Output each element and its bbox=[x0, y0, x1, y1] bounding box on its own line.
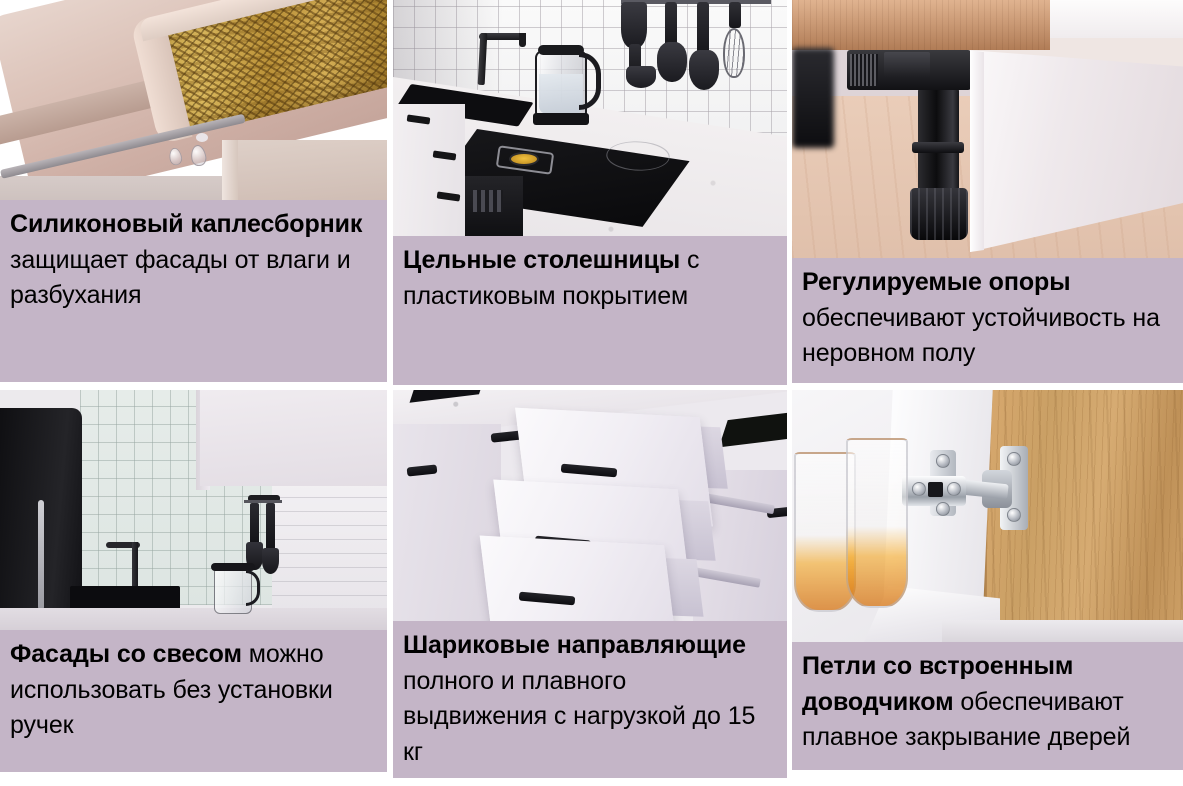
leg-bracket-clip bbox=[884, 52, 930, 78]
tall-cabinet-handle bbox=[38, 500, 44, 610]
whisk-handle-icon bbox=[729, 2, 741, 28]
white-brick-backsplash bbox=[272, 480, 387, 610]
drinking-glass bbox=[846, 438, 908, 608]
utensil-turner-icon bbox=[689, 50, 719, 90]
frying-pan bbox=[509, 152, 539, 166]
feature-card-solid-countertops[interactable]: Цельные столешницы с пластиковым покрыти… bbox=[393, 0, 787, 385]
feature-card-soft-close-hinges[interactable]: Петли со встроенным доводчиком обеспечив… bbox=[792, 390, 1183, 770]
utensil-spoon-icon bbox=[657, 42, 687, 82]
adjustable-leg-foot bbox=[910, 188, 968, 240]
oven-control-panel bbox=[473, 190, 503, 212]
hinge-screw-icon bbox=[912, 482, 926, 496]
plinth-edge bbox=[970, 46, 984, 252]
feature-title: Шариковые направляющие bbox=[403, 631, 746, 659]
feature-title: Цельные столешницы bbox=[403, 246, 680, 274]
floor-area bbox=[0, 176, 226, 200]
feature-caption-silicone-drip-catcher: Силиконовый каплесборник защищает фасады… bbox=[0, 200, 387, 382]
cabinet-side bbox=[222, 140, 238, 200]
feature-caption-adjustable-legs: Регулируемые опоры обеспечивают устойчив… bbox=[792, 258, 1183, 383]
hinge-screw-icon bbox=[1007, 508, 1021, 522]
hinge-screw-icon bbox=[1007, 452, 1021, 466]
feature-description: защищает фасады от влаги и разбухания bbox=[10, 246, 351, 310]
drawer-front-bottom[interactable] bbox=[480, 536, 677, 621]
faucet-spout bbox=[519, 33, 526, 47]
feature-card-adjustable-legs[interactable]: Регулируемые опоры обеспечивают устойчив… bbox=[792, 0, 1183, 383]
floor-base bbox=[942, 620, 1183, 642]
leg-bracket-ribs bbox=[850, 54, 878, 86]
kettle-lid bbox=[538, 45, 584, 55]
drip-nub-icon bbox=[196, 133, 208, 142]
white-cabinet-panel bbox=[1050, 0, 1183, 38]
utensil-ladle-icon bbox=[626, 66, 656, 88]
cabinet-front bbox=[222, 140, 387, 200]
utensil-handle-icon bbox=[697, 2, 709, 54]
feature-image-overhang-fronts bbox=[0, 390, 387, 630]
kettle-base bbox=[533, 113, 589, 125]
feature-caption-overhang-fronts: Фасады со свесом можно использовать без … bbox=[0, 630, 387, 772]
cabinet-wood-shading bbox=[792, 0, 1050, 50]
feature-caption-soft-close-hinges: Петли со встроенным доводчиком обеспечив… bbox=[792, 642, 1183, 770]
hinge-soft-close-damper bbox=[928, 482, 943, 497]
cabinet-carcass-left bbox=[393, 424, 501, 621]
countertop-overhang bbox=[0, 608, 387, 630]
feature-caption-solid-countertops: Цельные столешницы с пластиковым покрыти… bbox=[393, 236, 787, 385]
upper-cabinet-front bbox=[200, 390, 387, 486]
hinge-screw-icon bbox=[947, 482, 961, 496]
feature-image-ball-bearing-slides bbox=[393, 390, 787, 621]
feature-grid: Силиконовый каплесборник защищает фасады… bbox=[0, 0, 1183, 786]
feature-title: Фасады со свесом bbox=[10, 640, 242, 668]
feature-card-ball-bearing-slides[interactable]: Шариковые направляющие полного и плавног… bbox=[393, 390, 787, 778]
feature-title: Силиконовый каплесборник bbox=[10, 210, 362, 238]
hinge-screw-icon bbox=[936, 454, 950, 468]
cooktop-edge bbox=[719, 411, 787, 448]
feature-image-solid-countertops bbox=[393, 0, 787, 236]
utensil-spoon-icon bbox=[262, 548, 279, 574]
feature-caption-ball-bearing-slides: Шариковые направляющие полного и плавног… bbox=[393, 621, 787, 778]
feature-description: обеспечивают устойчивость на неровном по… bbox=[802, 304, 1160, 368]
kettle-water bbox=[539, 74, 583, 114]
feature-description: полного и плавного выдвижения с нагрузко… bbox=[403, 667, 755, 766]
whisk-icon bbox=[723, 28, 745, 78]
feature-image-silicone-drip-catcher bbox=[0, 0, 387, 200]
adjustable-leg-ring bbox=[912, 142, 964, 153]
hinge-screw-icon bbox=[936, 502, 950, 516]
feature-card-silicone-drip-catcher[interactable]: Силиконовый каплесборник защищает фасады… bbox=[0, 0, 387, 382]
background-leg-blurred bbox=[792, 48, 834, 148]
feature-title: Регулируемые опоры bbox=[802, 268, 1070, 296]
feature-card-overhang-fronts[interactable]: Фасады со свесом можно использовать без … bbox=[0, 390, 387, 772]
feature-image-adjustable-legs bbox=[792, 0, 1183, 258]
utensil-spatula-icon bbox=[621, 2, 647, 48]
utensil-handle-icon bbox=[665, 2, 677, 46]
feature-image-soft-close-hinges bbox=[792, 390, 1183, 642]
faucet-body bbox=[132, 542, 138, 588]
